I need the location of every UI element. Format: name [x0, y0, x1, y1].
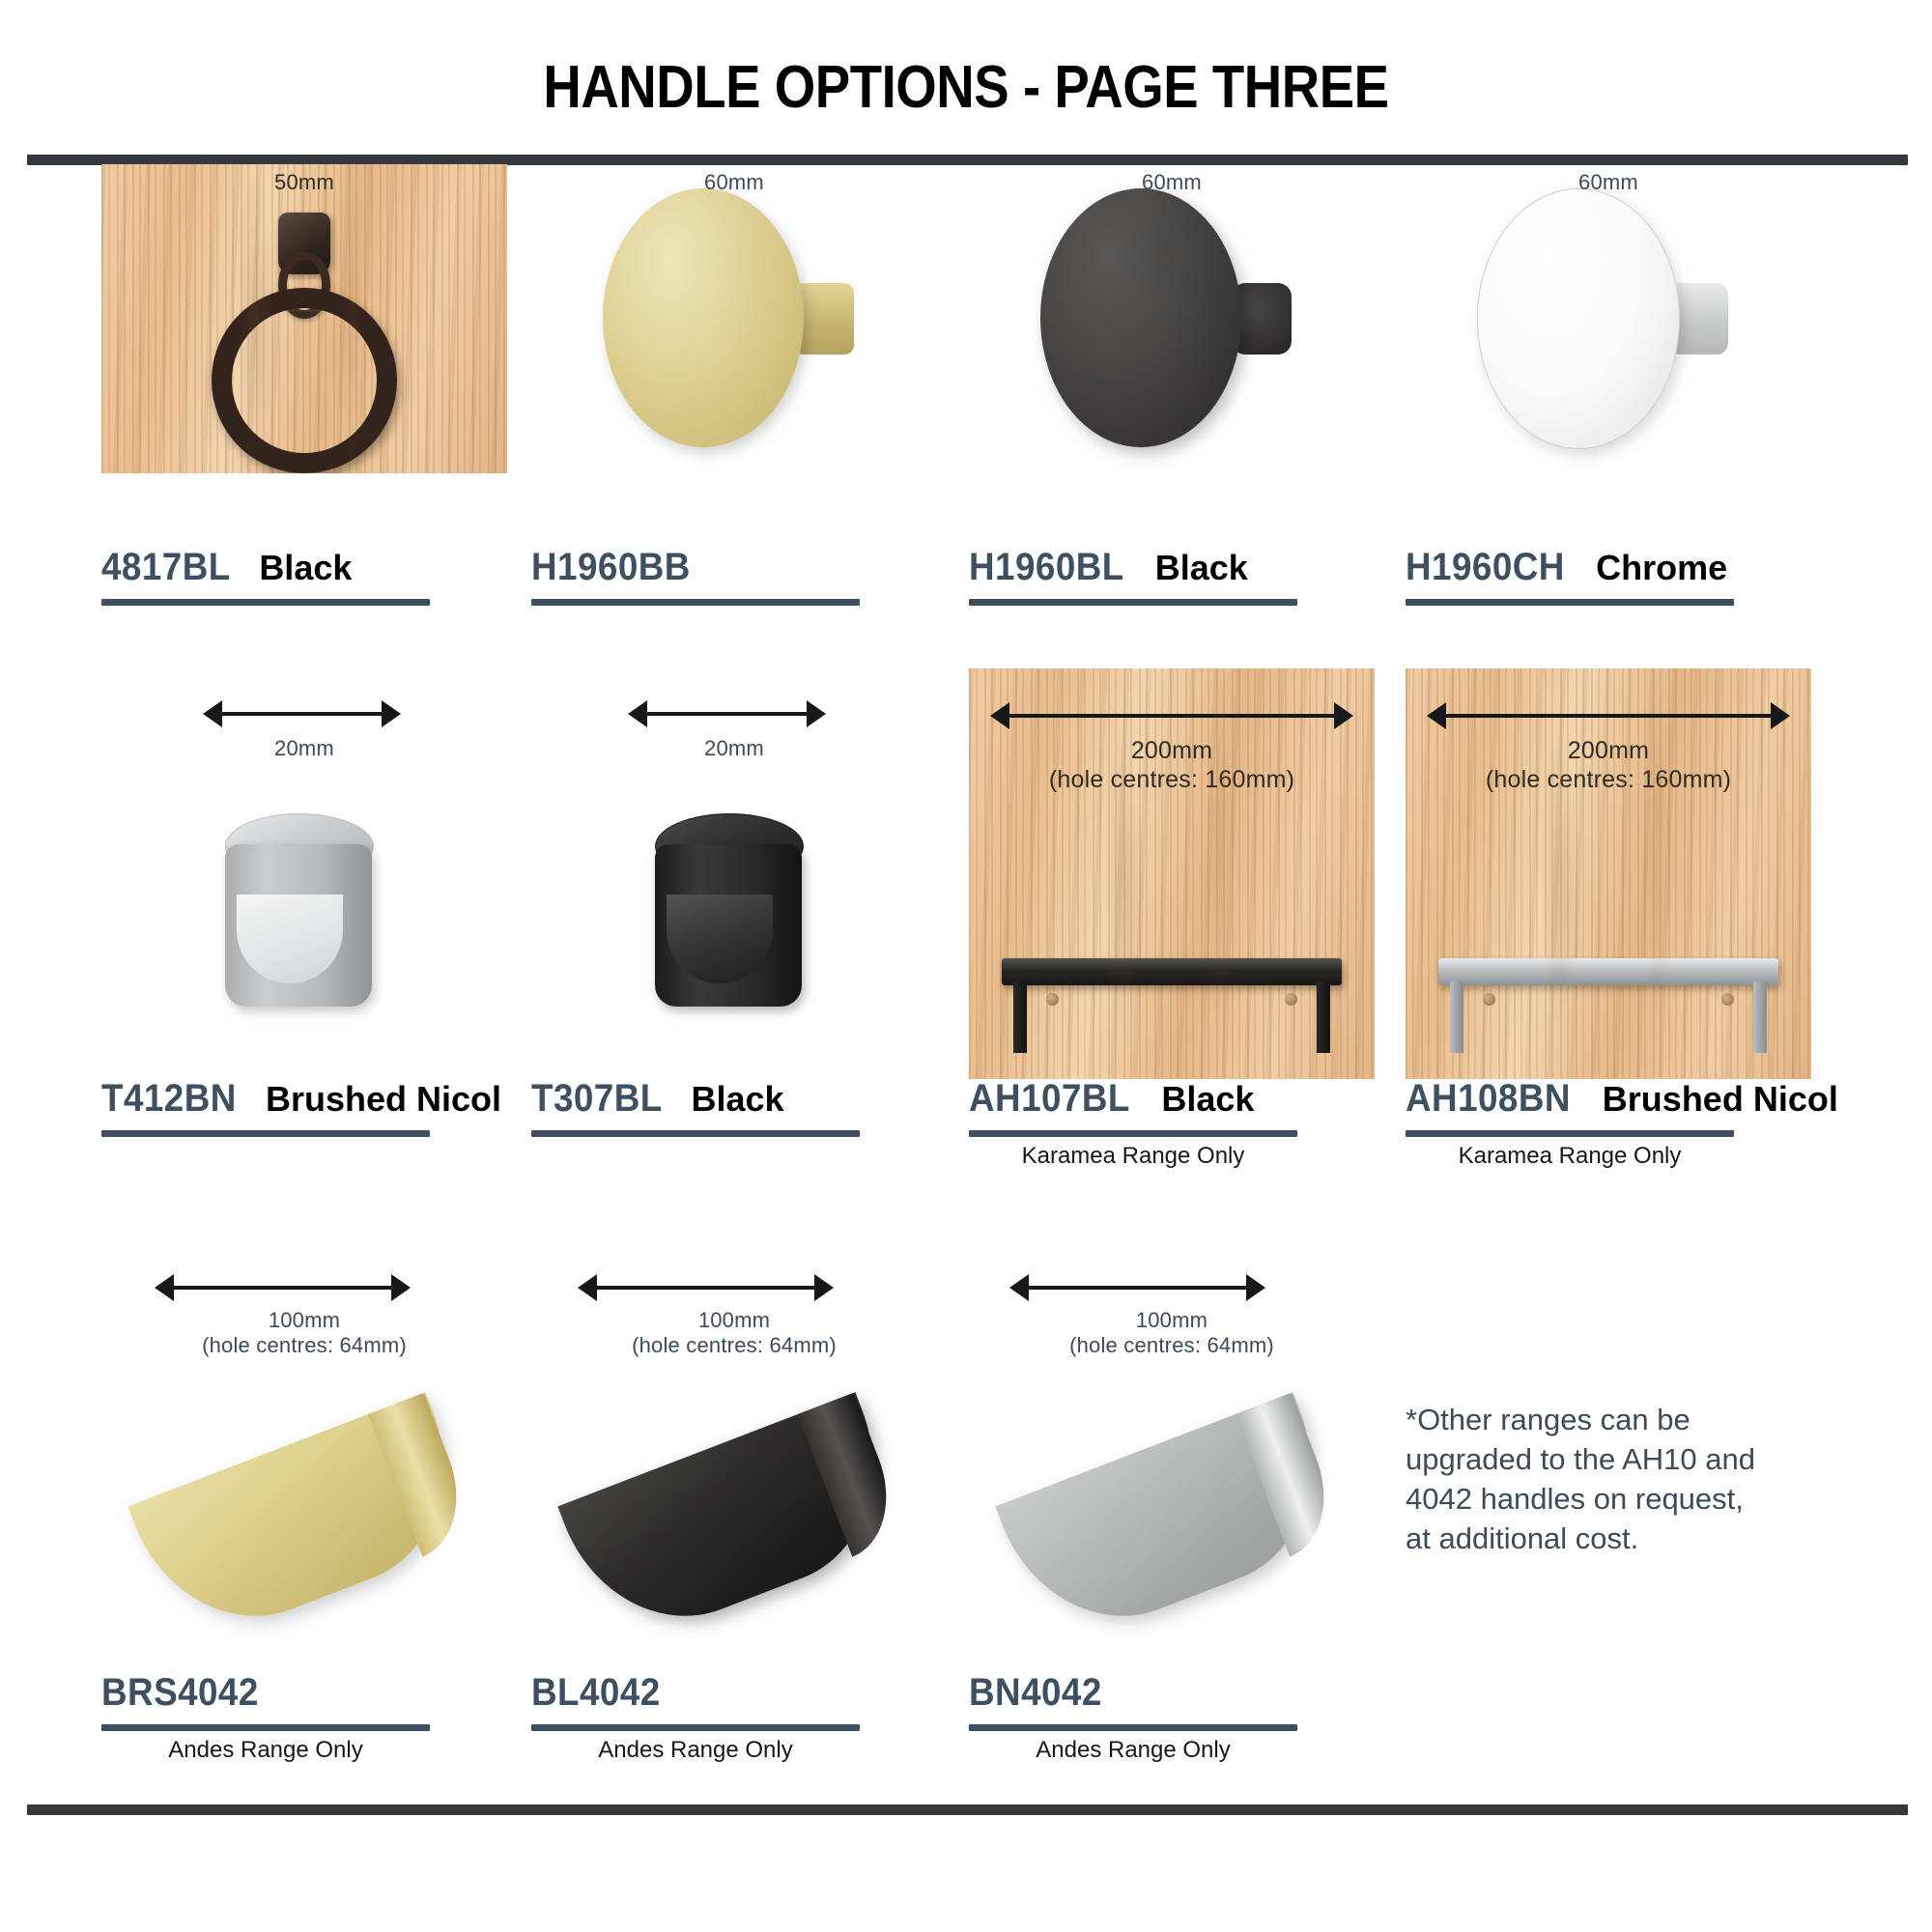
caption-ah107bl: AH107BL Black Karamea Range Only: [969, 1077, 1384, 1170]
dimension-arrow-ah107bl: [990, 699, 1353, 732]
caption-bn4042: BN4042 Andes Range Only: [969, 1671, 1384, 1764]
product-finish: Black: [692, 1079, 784, 1120]
product-photo-h1960bl: [969, 164, 1375, 473]
range-note: Andes Range Only: [531, 1737, 860, 1764]
disc-knob-icon: [1027, 188, 1317, 449]
caption-underline: [531, 599, 860, 606]
caption-h1960ch: H1960CH Chrome: [1406, 546, 1821, 606]
product-photo-t412bn: [101, 782, 507, 1053]
caption-underline: [969, 1130, 1297, 1137]
product-code: AH108BN: [1406, 1077, 1571, 1121]
dimension-arrow-bn4042: [1009, 1271, 1265, 1304]
product-row-1: 50mm 4817BL Black 60mm H1960BB: [0, 164, 1932, 657]
product-finish: Black: [1155, 548, 1248, 588]
dimension-arrow-t307bl: [628, 697, 826, 730]
cylinder-knob-icon: [217, 811, 391, 1024]
cylinder-knob-icon: [647, 811, 821, 1024]
dimension-arrow-t412bn: [203, 697, 401, 730]
caption-ah108bn: AH108BN Brushed Nicol Karamea Range Only: [1406, 1077, 1821, 1170]
caption-underline: [101, 1130, 430, 1137]
cup-handle-icon: [128, 1392, 480, 1651]
range-note: Karamea Range Only: [969, 1143, 1297, 1170]
caption-t412bn: T412BN Brushed Nicol: [101, 1077, 517, 1137]
caption-h1960bl: H1960BL Black: [969, 546, 1384, 606]
product-photo-brs4042: [101, 1372, 507, 1671]
dimension-label-4817bl: 50mm: [101, 170, 507, 195]
caption-underline: [969, 599, 1297, 606]
dimension-label-h1960bb: 60mm: [531, 170, 937, 195]
product-code: H1960CH: [1406, 546, 1565, 589]
product-code: H1960BL: [969, 546, 1124, 589]
range-note: Andes Range Only: [101, 1737, 430, 1764]
upgrade-footnote: *Other ranges can be upgraded to the AH1…: [1406, 1401, 1811, 1559]
dimension-label-ah107bl: 200mm (hole centres: 160mm): [969, 736, 1375, 794]
product-photo-h1960bb: [531, 164, 937, 473]
catalog-page: HANDLE OPTIONS - PAGE THREE 50mm 4817BL …: [0, 0, 1932, 1932]
product-finish: Black: [1161, 1079, 1254, 1120]
product-code: T412BN: [101, 1077, 237, 1121]
product-photo-bl4042: [531, 1372, 937, 1671]
caption-underline: [1406, 599, 1734, 606]
product-photo-4817bl: [101, 164, 507, 473]
product-code: AH107BL: [969, 1077, 1130, 1121]
dimension-arrow-brs4042: [155, 1271, 411, 1304]
caption-brs4042: BRS4042 Andes Range Only: [101, 1671, 517, 1764]
dimension-label-h1960ch: 60mm: [1406, 170, 1811, 195]
dimension-arrow-ah108bn: [1427, 699, 1790, 732]
caption-4817bl: 4817BL Black: [101, 546, 517, 606]
dimension-label-ah108bn: 200mm (hole centres: 160mm): [1406, 736, 1811, 794]
product-finish: Black: [259, 548, 352, 588]
dimension-label-h1960bl: 60mm: [969, 170, 1375, 195]
caption-underline: [101, 599, 430, 606]
disc-knob-icon: [1463, 188, 1753, 449]
product-code: T307BL: [531, 1077, 663, 1121]
product-photo-ah107bl: 200mm (hole centres: 160mm): [969, 668, 1375, 1079]
product-photo-ah108bn: 200mm (hole centres: 160mm): [1406, 668, 1811, 1079]
product-code: H1960BB: [531, 546, 691, 589]
product-photo-bn4042: [969, 1372, 1375, 1671]
page-title: HANDLE OPTIONS - PAGE THREE: [116, 53, 1816, 122]
caption-underline: [531, 1724, 860, 1731]
product-finish: Chrome: [1596, 548, 1727, 588]
dimension-label-bn4042: 100mm (hole centres: 64mm): [969, 1308, 1375, 1359]
caption-underline: [101, 1724, 430, 1731]
dimension-label-bl4042: 100mm (hole centres: 64mm): [531, 1308, 937, 1359]
dimension-label-t307bl: 20mm: [531, 736, 937, 761]
dimension-label-brs4042: 100mm (hole centres: 64mm): [101, 1308, 507, 1359]
dimension-arrow-bl4042: [578, 1271, 834, 1304]
caption-underline: [969, 1724, 1297, 1731]
product-row-2: 20mm T412BN Brushed Nicol 20mm: [0, 676, 1932, 1217]
product-photo-t307bl: [531, 782, 937, 1053]
bar-handle-icon: [1002, 958, 1342, 1003]
caption-h1960bb: H1960BB: [531, 546, 947, 606]
product-code: BL4042: [531, 1671, 661, 1715]
range-note: Karamea Range Only: [1406, 1143, 1734, 1170]
product-finish: Brushed Nicol: [266, 1079, 501, 1120]
disc-knob-icon: [589, 188, 879, 449]
dimension-label-t412bn: 20mm: [101, 736, 507, 761]
product-row-3: 100mm (hole centres: 64mm) BRS4042 Andes…: [0, 1246, 1932, 1826]
bar-handle-icon: [1438, 958, 1778, 1003]
range-note: Andes Range Only: [969, 1737, 1297, 1764]
product-code: 4817BL: [101, 546, 231, 589]
caption-t307bl: T307BL Black: [531, 1077, 947, 1137]
product-code: BN4042: [969, 1671, 1102, 1715]
product-photo-h1960ch: [1406, 164, 1811, 473]
cup-handle-icon: [557, 1392, 910, 1651]
caption-underline: [1406, 1130, 1734, 1137]
product-finish: Brushed Nicol: [1603, 1079, 1838, 1120]
caption-bl4042: BL4042 Andes Range Only: [531, 1671, 947, 1764]
product-code: BRS4042: [101, 1671, 259, 1715]
cup-handle-icon: [995, 1392, 1348, 1651]
caption-underline: [531, 1130, 860, 1137]
